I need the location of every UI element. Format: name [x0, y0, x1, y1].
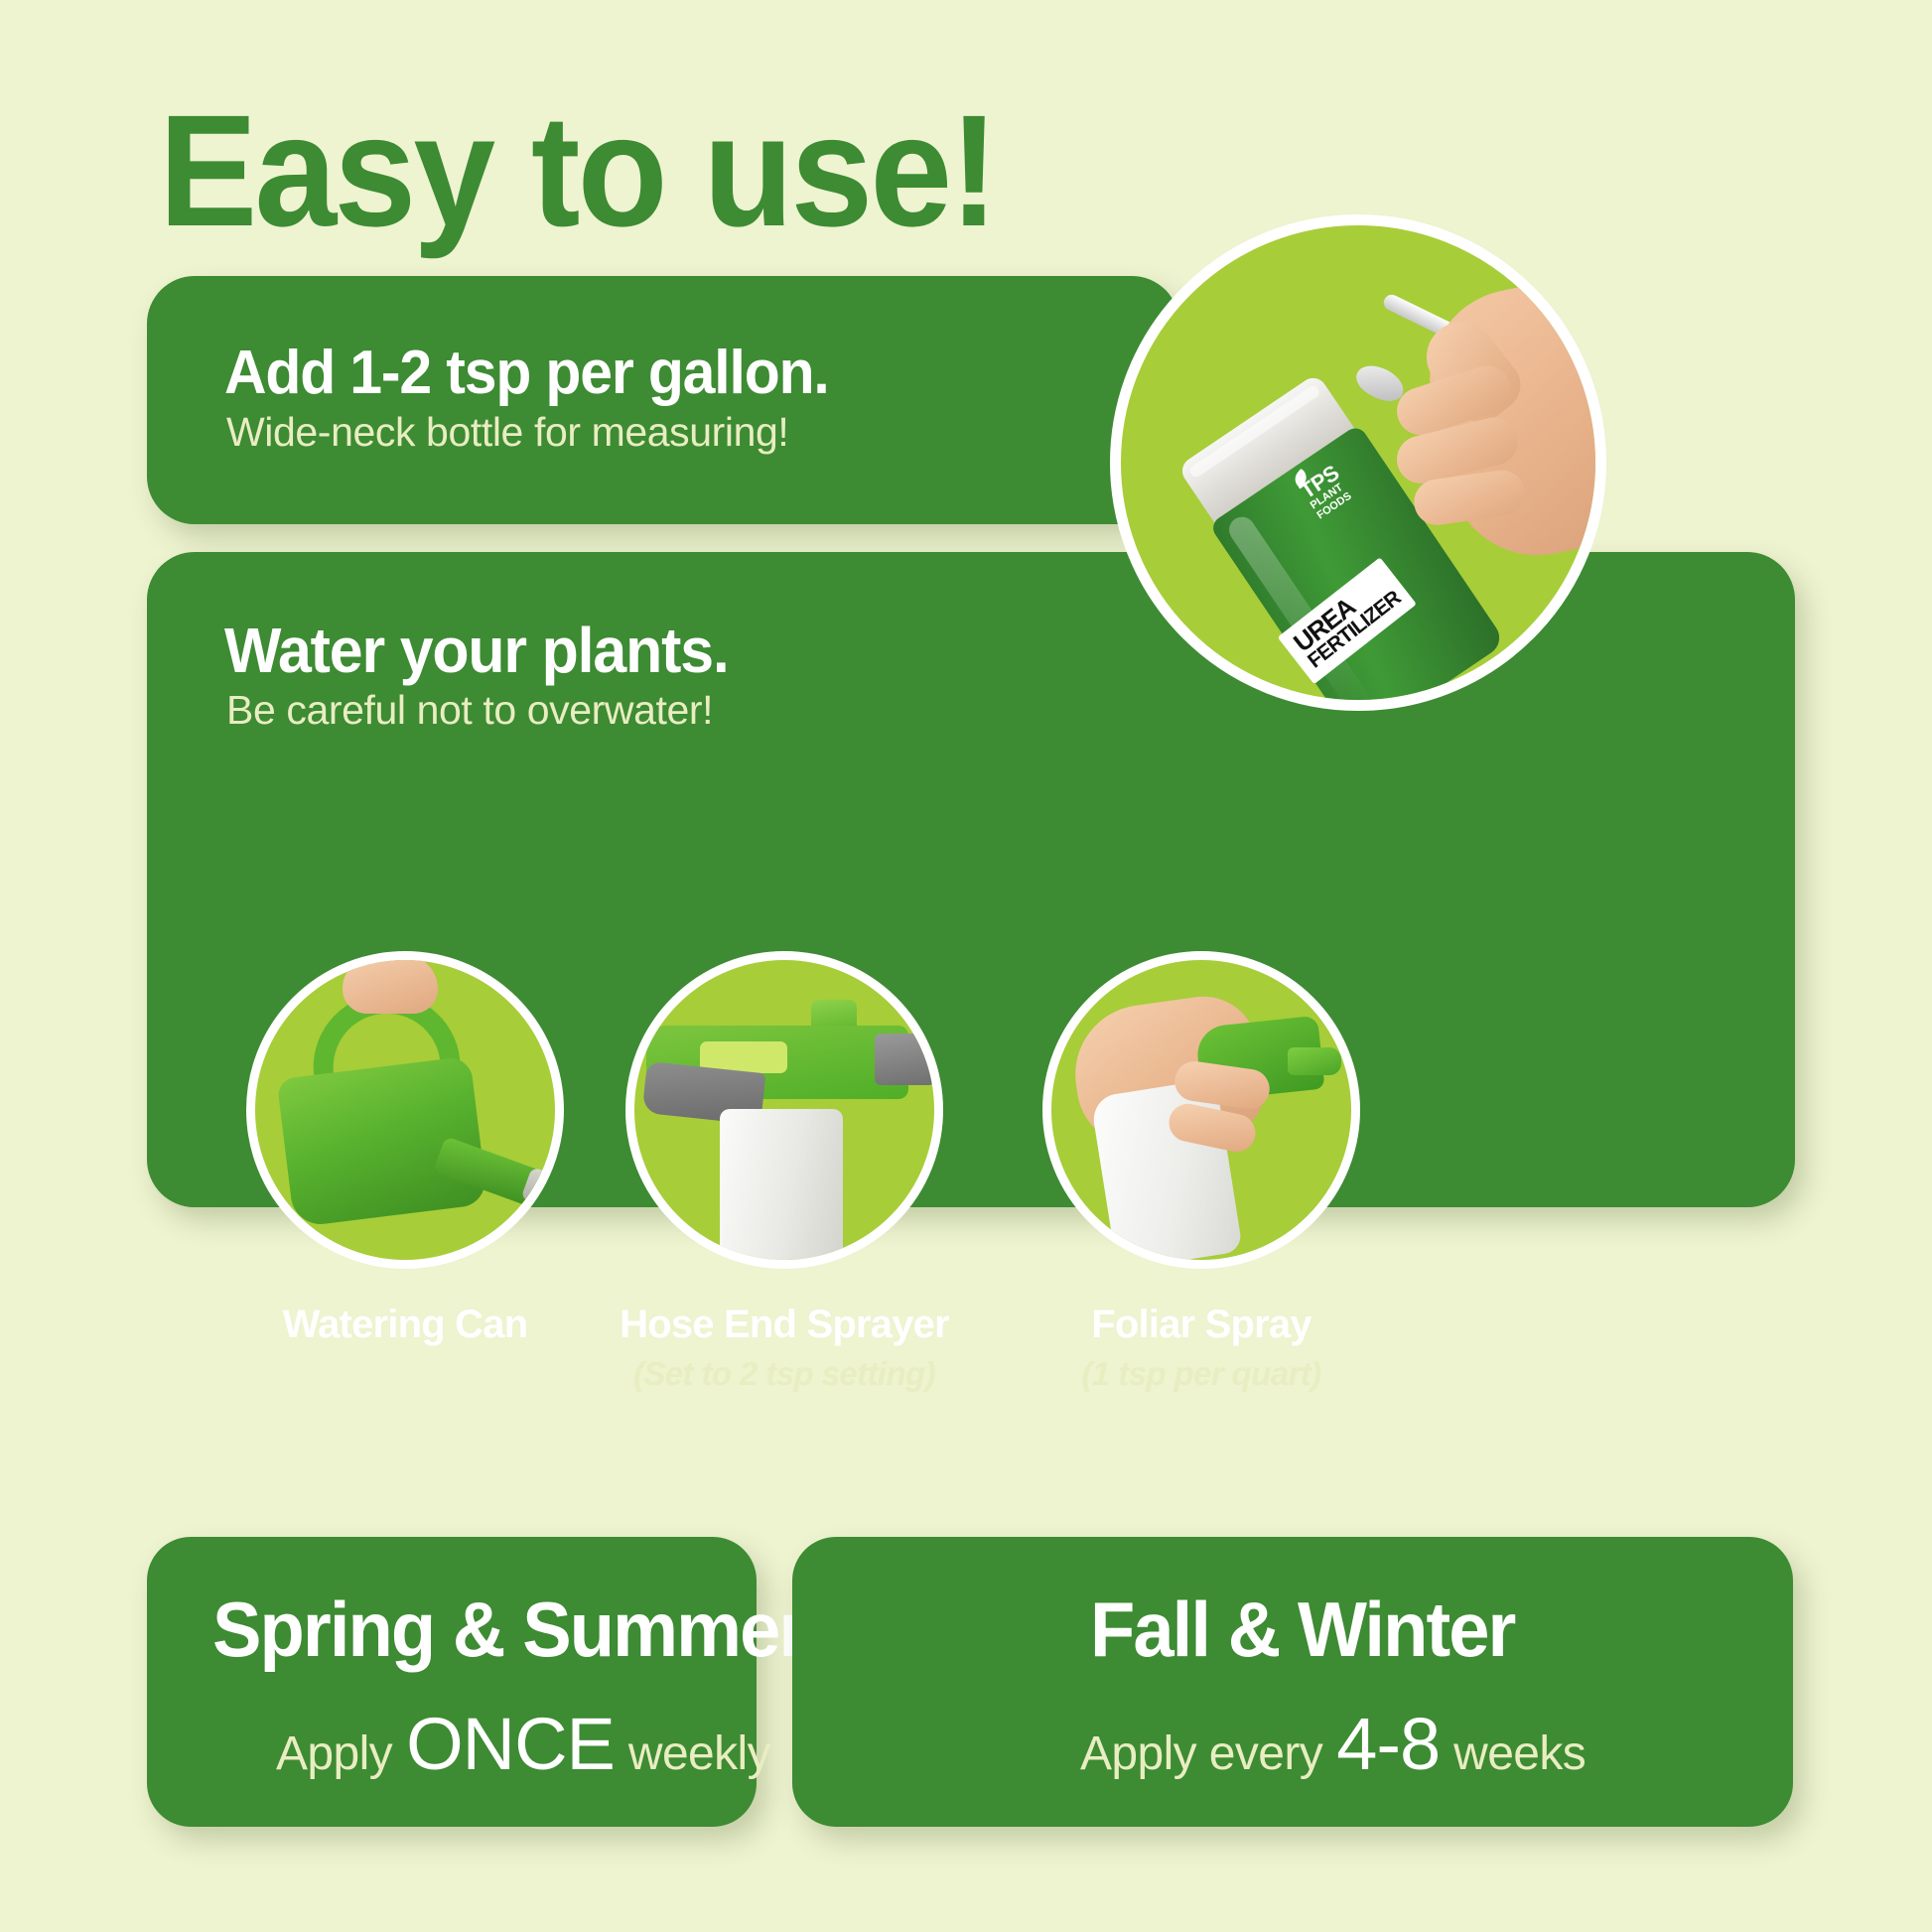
spray-nozzle-shape	[1288, 1047, 1341, 1075]
tps-brand-logo: TPS PLANT FOODS	[1297, 444, 1391, 534]
spring-summer-title: Spring & Summer	[212, 1585, 805, 1675]
method-hose-end-sprayer: Hose End Sprayer (Set to 2 tsp setting)	[625, 951, 943, 1393]
spring-prefix: Apply	[276, 1726, 392, 1781]
hand-icon	[1413, 262, 1606, 572]
measure-subtitle: Wide-neck bottle for measuring!	[226, 409, 788, 456]
fall-winter-frequency: Apply every 4-8 weeks	[1080, 1702, 1586, 1786]
fall-emphasis: 4-8	[1336, 1702, 1440, 1786]
method-label: Hose End Sprayer	[586, 1303, 983, 1347]
watering-can-icon	[246, 951, 564, 1269]
fall-winter-title: Fall & Winter	[1090, 1585, 1515, 1675]
method-label: Watering Can	[246, 1303, 564, 1347]
measure-heading: Add 1-2 tsp per gallon.	[224, 338, 829, 408]
infographic-page: Easy to use! Add 1-2 tsp per gallon. Wid…	[0, 0, 1932, 1932]
water-heading: Water your plants.	[224, 614, 729, 687]
method-label: Foliar Spray	[1003, 1303, 1400, 1347]
sprayer-nozzle-shape	[875, 1034, 938, 1085]
method-note: (Set to 2 tsp setting)	[586, 1355, 983, 1393]
foliar-spray-icon	[1042, 951, 1360, 1269]
fall-suffix: weeks	[1453, 1726, 1586, 1781]
can-holding-hand-icon	[343, 954, 438, 1014]
sprayer-bottle-shape	[720, 1109, 843, 1269]
method-watering-can: Watering Can	[246, 951, 564, 1355]
hose-end-sprayer-icon	[625, 951, 943, 1269]
fall-prefix: Apply every	[1080, 1726, 1322, 1781]
water-subtitle: Be careful not to overwater!	[226, 687, 713, 734]
page-title: Easy to use!	[159, 91, 996, 250]
method-note: (1 tsp per quart)	[1003, 1355, 1400, 1393]
hero-photo-inner: TPS PLANT FOODS UREA FERTILIZER	[1121, 225, 1595, 700]
spray-bottle-shape	[1090, 1078, 1243, 1269]
hand-spooning-fertilizer-icon: TPS PLANT FOODS UREA FERTILIZER	[1110, 214, 1606, 711]
spring-summer-frequency: Apply ONCE weekly	[276, 1702, 770, 1786]
spring-emphasis: ONCE	[406, 1702, 615, 1786]
method-foliar-spray: Foliar Spray (1 tsp per quart)	[1042, 951, 1360, 1393]
spring-suffix: weekly	[628, 1726, 770, 1781]
